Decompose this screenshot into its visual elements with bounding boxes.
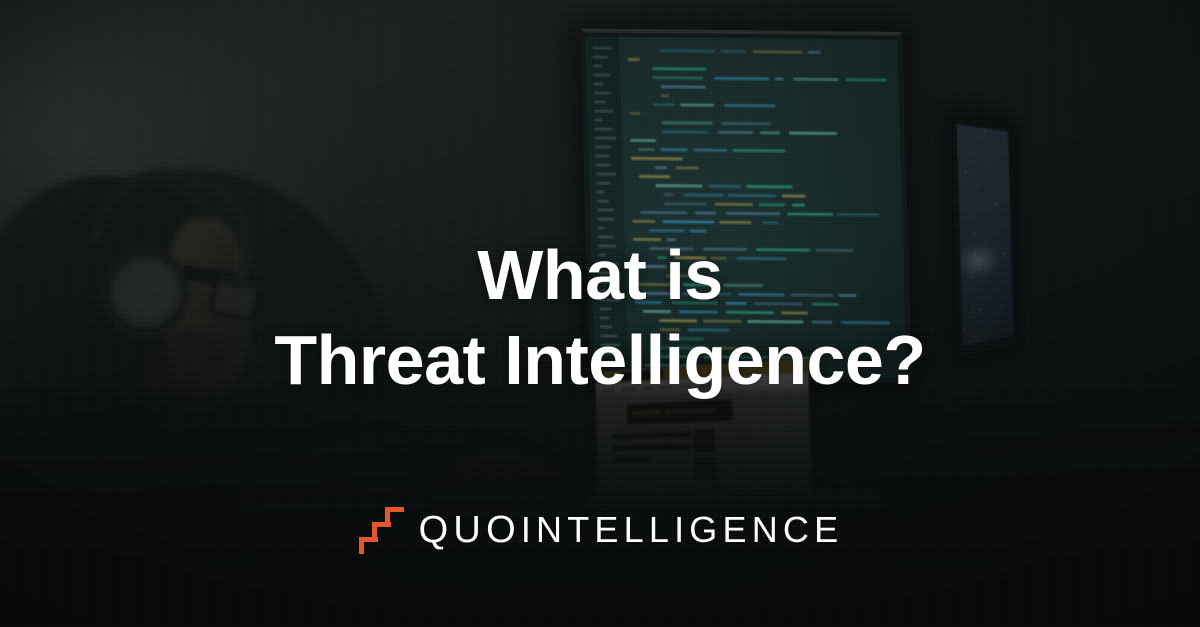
page-title-line-1: What is: [477, 236, 722, 314]
page-title-line-2: Threat Intelligence?: [274, 321, 925, 399]
banner-content: What isThreat Intelligence? QUOINTELLIGE…: [0, 0, 1200, 627]
wordmark-intelligence: INTELLIGENCE: [521, 512, 843, 548]
quointelligence-logo-icon: [357, 505, 405, 555]
wordmark-quo: QUO: [419, 511, 521, 549]
brand-logo-lockup: QUOINTELLIGENCE: [0, 505, 1200, 555]
brand-wordmark: QUOINTELLIGENCE: [419, 511, 844, 549]
social-share-banner: SONY What isThreat Intelligence?: [0, 0, 1200, 627]
page-title: What isThreat Intelligence?: [0, 233, 1200, 404]
